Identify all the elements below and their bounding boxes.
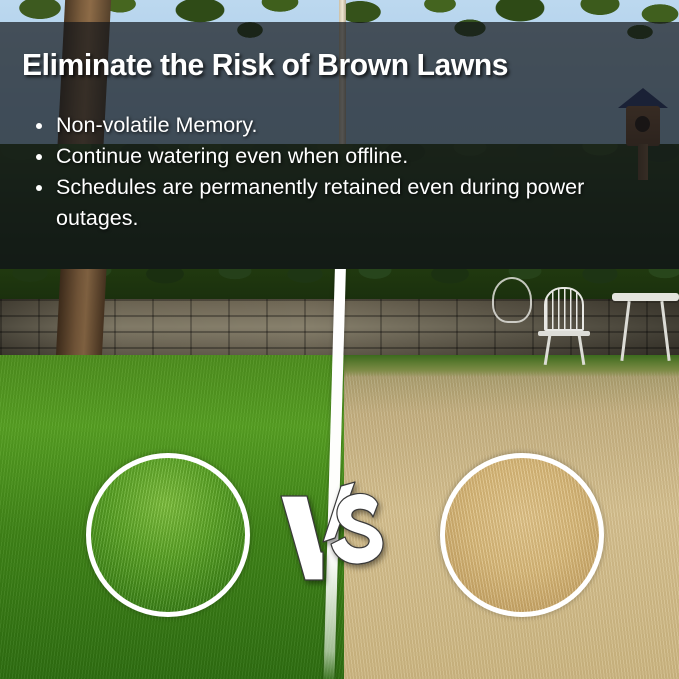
list-item: Non-volatile Memory. (30, 110, 670, 141)
versus-badge (279, 480, 401, 585)
comparison-scene (0, 269, 679, 679)
chair-backrest (544, 287, 584, 331)
healthy-lawn-closeup-circle (86, 453, 250, 617)
tree-trunk-lower (56, 269, 107, 364)
lawn-comparison-ad: Eliminate the Risk of Brown Lawns Non-vo… (0, 0, 679, 679)
chair-leg (578, 335, 586, 365)
page-title: Eliminate the Risk of Brown Lawns (22, 48, 657, 83)
feature-bullet-list: Non-volatile Memory. Continue watering e… (30, 110, 670, 234)
list-item: Schedules are permanently retained even … (30, 172, 670, 234)
table-leg (620, 301, 630, 361)
table-leg (660, 301, 670, 361)
table-top (612, 293, 679, 301)
chair-seat (538, 331, 590, 336)
garden-chair (536, 287, 592, 365)
dry-lawn-closeup-circle (440, 453, 604, 617)
chair-leg (544, 335, 552, 365)
garden-table (612, 293, 679, 367)
iron-scroll-ornament (492, 277, 532, 323)
list-item: Continue watering even when offline. (30, 141, 670, 172)
